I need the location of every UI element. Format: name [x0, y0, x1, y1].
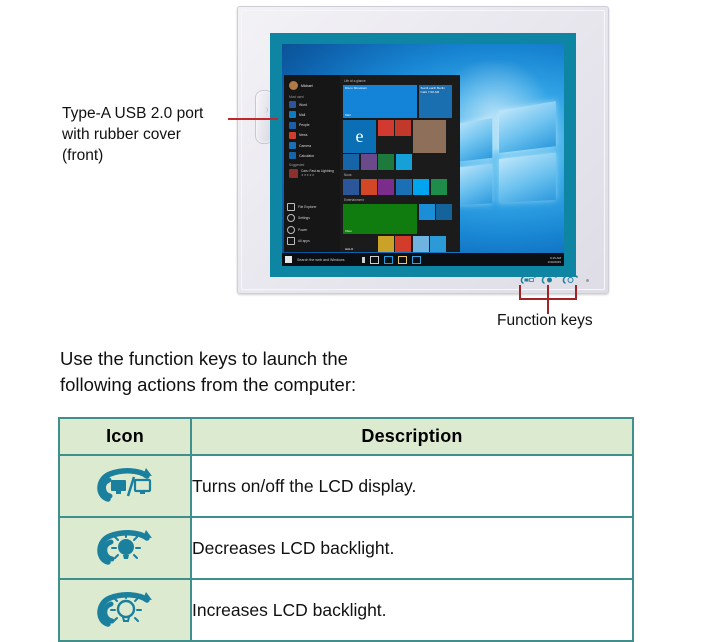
search-input[interactable]: Search the web and Windows	[297, 258, 345, 262]
tile-foot: Mail	[345, 113, 351, 117]
status-dot	[586, 279, 589, 282]
suggested-label: Suggested	[289, 163, 337, 167]
tile-photos[interactable]	[413, 120, 446, 153]
table-row: Decreases LCD backlight.	[59, 517, 633, 579]
panel-pc-photo: Michael Most used Word Mail	[237, 6, 609, 294]
tile-store[interactable]	[378, 154, 394, 170]
tile-foot: HALO	[345, 247, 353, 251]
cell-icon	[59, 455, 191, 517]
app-label: News	[299, 133, 307, 137]
tile-phone[interactable]	[431, 179, 447, 195]
clock[interactable]: 9:15 AM 1/30/2015	[548, 256, 561, 264]
tile-group-label: Entertainment	[344, 198, 457, 202]
task-view-icon[interactable]	[370, 256, 379, 264]
tile-word[interactable]	[343, 179, 359, 195]
lcd-screen: Michael Most used Word Mail	[282, 44, 564, 266]
start-menu-left-rail: Michael Most used Word Mail	[284, 75, 340, 252]
app-label: Calculator	[299, 154, 314, 158]
function-keys-bracket	[519, 285, 577, 300]
cell-description: Increases LCD backlight.	[191, 579, 633, 641]
tile-news[interactable]: Disco Slimdown Mail	[343, 85, 417, 118]
page-root: Michael Most used Word Mail	[0, 0, 714, 634]
bottom-label: Power	[298, 228, 307, 232]
tile-office[interactable]	[378, 120, 394, 136]
tile-game-b[interactable]	[395, 236, 411, 252]
start-menu-tiles: Life at a glance Disco Slimdown Mail Sun…	[340, 75, 460, 252]
bracket-tick	[519, 285, 521, 300]
backlight-increase-icon	[94, 588, 156, 632]
table-header-row: Icon Description	[59, 418, 633, 455]
word-icon	[289, 101, 296, 108]
callout-usb-line3: (front)	[62, 145, 242, 166]
tile-twitter[interactable]	[396, 154, 412, 170]
most-used-label: Most used	[289, 95, 337, 99]
taskbar-icons	[362, 256, 421, 264]
microphone-icon[interactable]	[362, 257, 365, 263]
start-menu-app[interactable]: Camera	[289, 142, 337, 149]
tile-title: e	[356, 126, 364, 146]
start-menu-app[interactable]: News	[289, 132, 337, 139]
bottom-label: All apps	[298, 239, 310, 243]
start-menu-bottom-item[interactable]: File Explorer	[287, 203, 339, 211]
bottom-label: Settings	[298, 216, 310, 220]
start-menu-bottom: File Explorer Settings Power	[287, 203, 339, 249]
tile-game-c[interactable]	[413, 236, 429, 252]
edge-icon[interactable]	[384, 256, 393, 264]
tile-xbox[interactable]: Xbox	[343, 204, 417, 234]
suggested-app[interactable]: Cars: Fast as Lightning ★★★★★	[289, 169, 337, 178]
lcd-display-toggle-icon	[94, 465, 156, 507]
start-menu-app[interactable]: Word	[289, 101, 337, 108]
calculator-icon	[289, 152, 296, 159]
tile-onenote[interactable]	[378, 179, 394, 195]
cell-description: Decreases LCD backlight.	[191, 517, 633, 579]
start-button-icon[interactable]	[285, 256, 292, 263]
tile-group	[343, 179, 457, 195]
taskbar[interactable]: Search the web and Windows 9:15 AM 1/30/…	[282, 253, 564, 266]
bottom-label: File Explorer	[298, 205, 317, 209]
cell-icon	[59, 517, 191, 579]
app-label: Camera	[299, 144, 311, 148]
usb-cover-notch	[261, 107, 268, 113]
tile-people[interactable]	[343, 154, 359, 170]
all-apps-icon	[287, 237, 295, 245]
tile-halo[interactable]: HALO	[343, 236, 376, 252]
tile-title: Sunlit earth Berlin Café 7:00 AM	[421, 87, 450, 95]
column-header-description: Description	[191, 418, 633, 455]
table-row: Increases LCD backlight.	[59, 579, 633, 641]
tile-group-label: Life at a glance	[344, 79, 457, 83]
callout-usb-line2: with rubber cover	[62, 124, 242, 145]
game-icon	[289, 169, 298, 178]
tile-game-d[interactable]	[430, 236, 446, 252]
power-icon	[287, 226, 295, 234]
tile-movies[interactable]	[419, 204, 435, 220]
tile-health[interactable]	[395, 120, 411, 136]
cell-description: Turns on/off the LCD display.	[191, 455, 633, 517]
tile-powerpoint[interactable]	[361, 179, 377, 195]
tile-tv[interactable]	[436, 204, 452, 220]
logo-pane	[499, 101, 556, 153]
clock-time: 9:15 AM	[548, 256, 561, 260]
function-keys-table: Icon Description	[58, 417, 634, 642]
start-menu-app[interactable]: Mail	[289, 111, 337, 118]
callout-usb-line1: Type-A USB 2.0 port	[62, 103, 242, 124]
tile-edge[interactable]: e	[343, 120, 376, 153]
start-menu-user[interactable]: Michael	[289, 81, 337, 90]
intro-line2: following actions from the computer:	[60, 372, 480, 398]
intro-paragraph: Use the function keys to launch the foll…	[60, 346, 480, 398]
app-label: People	[299, 123, 310, 127]
tile-game-a[interactable]	[378, 236, 394, 252]
windows-logo-art	[450, 101, 556, 213]
start-menu-bottom-item[interactable]: Power	[287, 226, 339, 234]
mail-icon	[289, 111, 296, 118]
intro-line1: Use the function keys to launch the	[60, 346, 480, 372]
column-header-icon: Icon	[59, 418, 191, 455]
bracket-tick	[575, 285, 577, 300]
backlight-decrease-icon	[94, 526, 156, 570]
file-explorer-icon[interactable]	[398, 256, 407, 264]
tile-group: Disco Slimdown Mail Sunlit earth Berlin …	[343, 85, 457, 170]
gear-icon	[287, 214, 295, 222]
tile-title: Disco Slimdown	[345, 87, 415, 91]
app-label: Mail	[299, 113, 305, 117]
avatar	[289, 81, 298, 90]
people-icon	[289, 122, 296, 129]
user-name: Michael	[301, 84, 313, 88]
news-icon	[289, 132, 296, 139]
cell-icon	[59, 579, 191, 641]
tile-group-label: Nova	[344, 173, 457, 177]
start-menu-bottom-item[interactable]: All apps	[287, 237, 339, 245]
callout-function-keys-label: Function keys	[497, 312, 593, 330]
tile-foot: Xbox	[345, 229, 352, 233]
start-menu[interactable]: Michael Most used Word Mail	[284, 75, 460, 252]
tile-group: Xbox HALO	[343, 204, 457, 252]
display-teal-frame: Michael Most used Word Mail	[270, 33, 576, 277]
callout-usb-leader-line	[228, 118, 278, 120]
tile-skype[interactable]	[413, 179, 429, 195]
clock-date: 1/30/2015	[548, 260, 561, 264]
app-label: Word	[299, 103, 307, 107]
start-menu-app[interactable]: Calculator	[289, 152, 337, 159]
tile-photo-app[interactable]	[361, 154, 377, 170]
table-row: Turns on/off the LCD display.	[59, 455, 633, 517]
camera-icon	[289, 142, 296, 149]
tile-calendar[interactable]: Sunlit earth Berlin Café 7:00 AM	[419, 85, 452, 118]
logo-pane	[499, 152, 556, 202]
start-menu-app[interactable]: People	[289, 122, 337, 129]
suggested-rating: ★★★★★	[301, 173, 334, 177]
callout-usb-port: Type-A USB 2.0 port with rubber cover (f…	[62, 103, 242, 166]
store-icon[interactable]	[412, 256, 421, 264]
tile-excel[interactable]	[396, 179, 412, 195]
start-menu-bottom-item[interactable]: Settings	[287, 214, 339, 222]
file-explorer-icon	[287, 203, 295, 211]
